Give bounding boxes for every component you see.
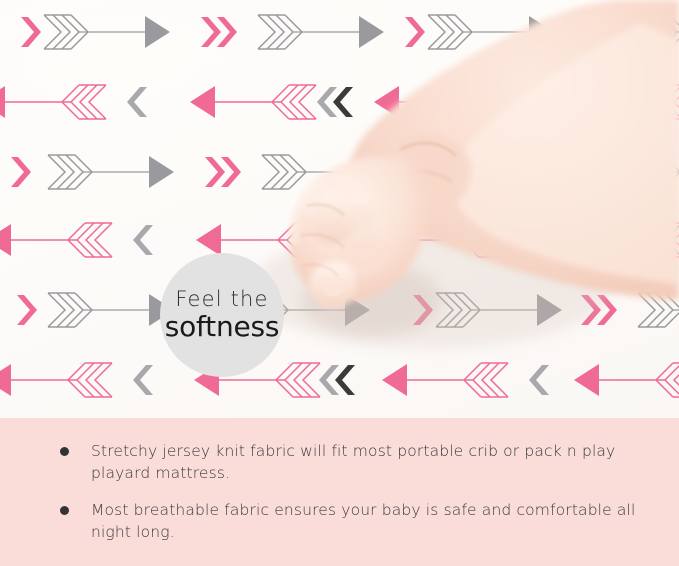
pattern-row-2	[0, 85, 679, 119]
product-photo: Feel the softness	[0, 0, 679, 418]
feature-bullets-panel: Stretchy jersey knit fabric will fit mos…	[0, 418, 679, 566]
arrow-pattern	[0, 0, 679, 418]
feature-bullet-text: Most breathable fabric ensures your baby…	[91, 499, 645, 544]
product-feature-image: Feel the softness Stretchy jersey knit f…	[0, 0, 679, 566]
list-item: Most breathable fabric ensures your baby…	[60, 499, 645, 544]
pattern-row-4	[0, 223, 679, 257]
badge-line-1: Feel the	[175, 289, 268, 310]
badge-line-2: softness	[165, 313, 280, 341]
bullet-dot-icon	[60, 506, 69, 515]
pattern-row-6	[0, 363, 679, 397]
pattern-row-5	[17, 293, 679, 327]
bullet-dot-icon	[60, 447, 69, 456]
pattern-row-3	[11, 155, 679, 189]
pattern-row-1	[21, 15, 679, 49]
feature-bullet-text: Stretchy jersey knit fabric will fit mos…	[91, 440, 645, 485]
list-item: Stretchy jersey knit fabric will fit mos…	[60, 440, 645, 485]
feel-the-softness-badge: Feel the softness	[160, 253, 284, 377]
